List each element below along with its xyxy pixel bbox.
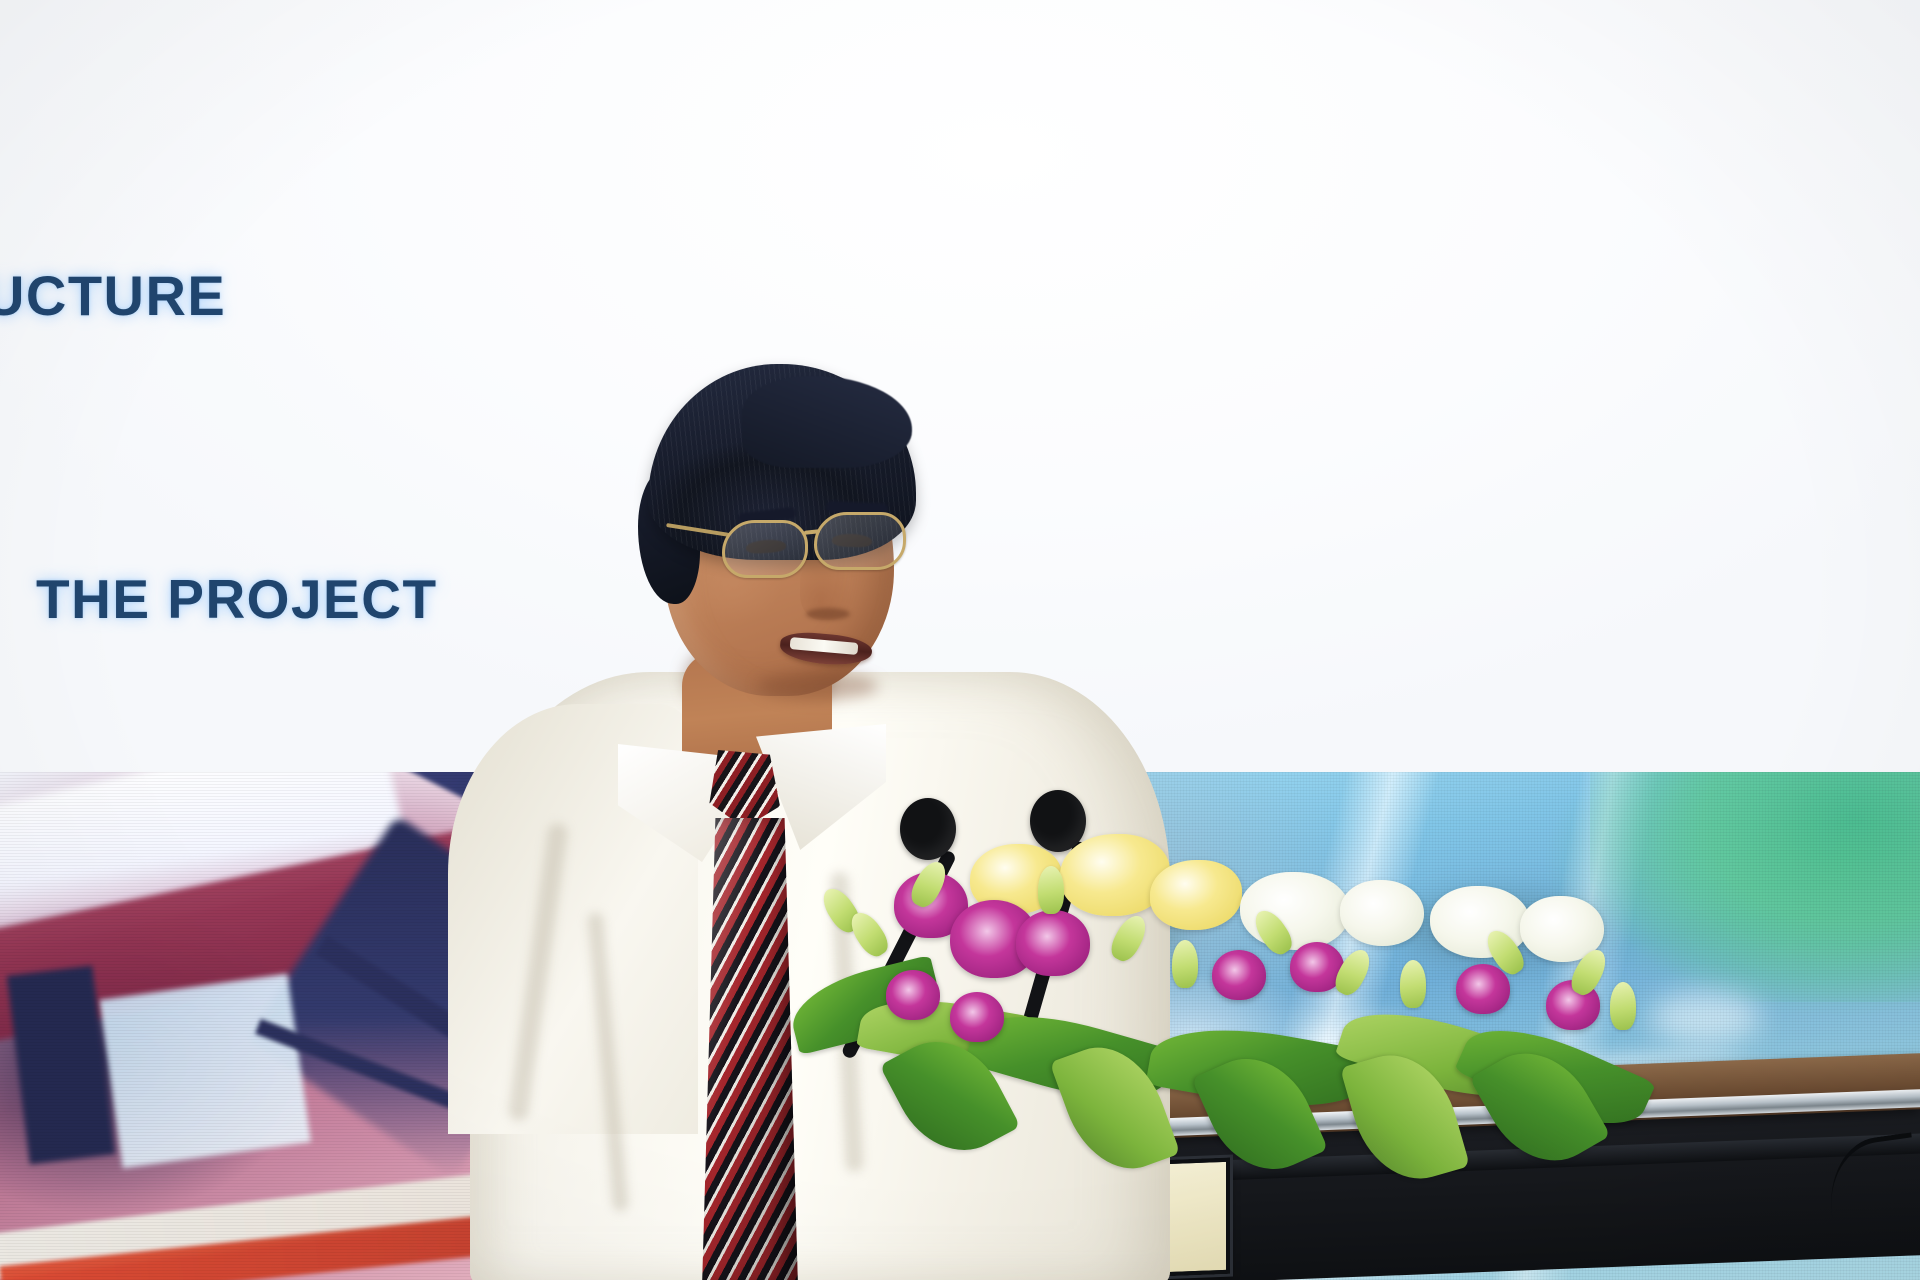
magenta-orchid-bloom <box>886 970 940 1020</box>
green-bud <box>1172 940 1198 988</box>
necktie-sheen <box>702 818 798 1280</box>
photo-pale-band <box>0 1170 511 1279</box>
photo-canvas: RUCTURE THE PROJECT <box>0 0 1920 1280</box>
green-bud <box>1610 982 1636 1030</box>
photo-red-band <box>0 1210 541 1280</box>
aerial-building-cluster-3 <box>1650 992 1760 1044</box>
floral-arrangement <box>820 852 1640 1152</box>
white-orchid-bloom <box>1340 880 1424 946</box>
slide-headline-line-1: RUCTURE <box>0 268 226 324</box>
photo-dark-column <box>7 965 116 1164</box>
yellow-lily-bloom <box>1150 860 1242 930</box>
green-bud <box>1400 960 1426 1008</box>
photo-light-panel <box>99 974 311 1169</box>
magenta-orchid-bloom <box>1016 910 1090 976</box>
photo-red-roof <box>0 827 496 1043</box>
speaker-nostrils <box>806 608 850 620</box>
slide-headline-line-2: THE PROJECT <box>36 572 438 627</box>
microphone-right-head <box>1030 790 1086 852</box>
white-orchid-bloom <box>1240 872 1350 950</box>
speaker-hair-fringe <box>742 376 912 468</box>
magenta-orchid-bloom <box>1456 964 1510 1014</box>
green-bud <box>1106 911 1151 966</box>
chin-shadow <box>758 672 878 700</box>
green-bud <box>1038 866 1064 914</box>
eyeglasses-lens-right <box>814 512 906 570</box>
microphone-left-head <box>900 798 956 860</box>
magenta-orchid-bloom <box>1212 950 1266 1000</box>
photo-sky-region <box>0 772 411 957</box>
eyeglasses-lens-left <box>722 520 808 578</box>
magenta-orchid-bloom <box>950 992 1004 1042</box>
